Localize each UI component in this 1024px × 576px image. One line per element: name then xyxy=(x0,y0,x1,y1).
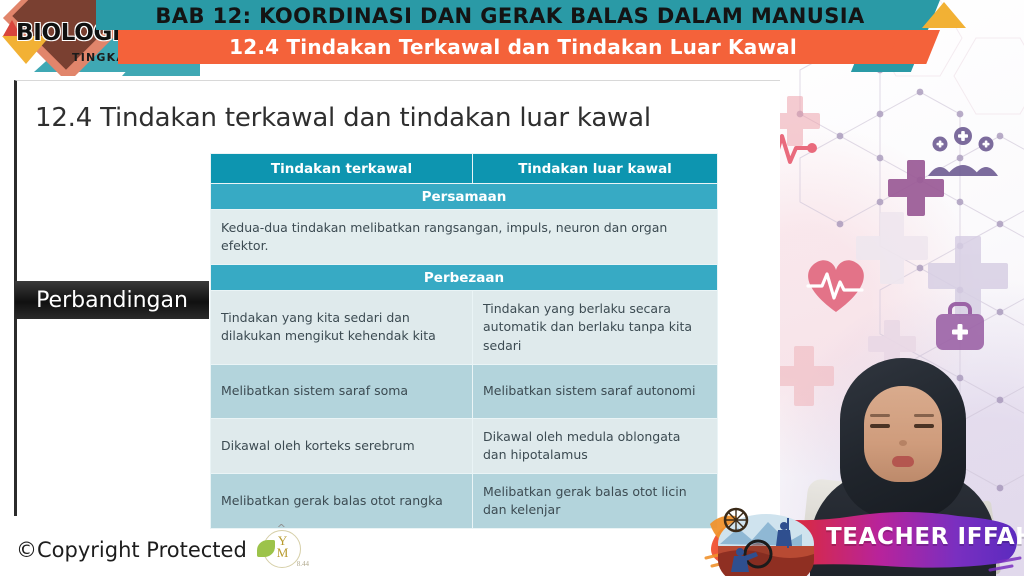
teacher-face xyxy=(864,386,942,482)
column-header-luar-kawal: Tindakan luar kawal xyxy=(473,154,718,184)
eyebrow-left xyxy=(870,414,890,417)
copyright-notice: ©Copyright Protected ^ YM 8.44 xyxy=(16,530,299,570)
copyright-text: ©Copyright Protected xyxy=(16,538,247,562)
comparison-table: Tindakan terkawal Tindakan luar kawal Pe… xyxy=(210,153,718,529)
table-row-persamaan-text: Kedua-dua tindakan melibatkan rangsangan… xyxy=(211,210,718,265)
ecg-line-icon xyxy=(780,128,846,168)
eye-left-closed xyxy=(870,424,890,428)
table-row: Tindakan yang kita sedari dan dilakukan … xyxy=(211,291,718,364)
cell-luar-kawal-3: Dikawal oleh medula oblongata dan hipota… xyxy=(473,418,718,473)
lesson-header-banner: BAB 12: KOORDINASI DAN GERAK BALAS DALAM… xyxy=(0,0,1024,72)
table-band-persamaan: Persamaan xyxy=(211,184,718,210)
cell-terkawal-4: Melibatkan gerak balas otot rangka xyxy=(211,473,473,528)
table-row: Melibatkan sistem saraf soma Melibatkan … xyxy=(211,364,718,418)
teacher-brand-banner: TEACHER IFFAH xyxy=(704,502,1024,576)
cell-terkawal-1: Tindakan yang kita sedari dan dilakukan … xyxy=(211,291,473,364)
topic-subtitle: 12.4 Tindakan Terkawal dan Tindakan Luar… xyxy=(118,31,908,64)
slide-content-area: 12.4 Tindakan terkawal dan tindakan luar… xyxy=(14,80,780,516)
cell-luar-kawal-2: Melibatkan sistem saraf autonomi xyxy=(473,364,718,418)
nose xyxy=(899,440,907,446)
table-row: Dikawal oleh korteks serebrum Dikawal ol… xyxy=(211,418,718,473)
cell-luar-kawal-4: Melibatkan gerak balas otot licin dan ke… xyxy=(473,473,718,528)
table-row: Melibatkan gerak balas otot rangka Melib… xyxy=(211,473,718,528)
cell-terkawal-2: Melibatkan sistem saraf soma xyxy=(211,364,473,418)
webcam-panel xyxy=(780,0,1024,576)
table-header-row: Tindakan terkawal Tindakan luar kawal xyxy=(211,154,718,184)
cell-luar-kawal-1: Tindakan yang berlaku secara automatik d… xyxy=(473,291,718,364)
medical-bag-icon xyxy=(932,300,988,354)
mouth xyxy=(892,456,914,467)
medical-team-icon xyxy=(928,124,998,176)
band-label-persamaan: Persamaan xyxy=(211,184,718,210)
band-label-perbezaan: Perbezaan xyxy=(211,265,718,291)
header-yellow-triangle-icon xyxy=(922,2,966,28)
teacher-brand-name: TEACHER IFFAH xyxy=(826,524,1024,550)
eye-right-closed xyxy=(914,424,934,428)
table-band-perbezaan: Perbezaan xyxy=(211,265,718,291)
copyright-logo: ^ YM 8.44 xyxy=(255,530,299,570)
screen-root: 12.4 Tindakan terkawal dan tindakan luar… xyxy=(0,0,1024,576)
column-header-terkawal: Tindakan terkawal xyxy=(211,154,473,184)
cell-terkawal-3: Dikawal oleh korteks serebrum xyxy=(211,418,473,473)
perbandingan-label: Perbandingan xyxy=(15,281,209,319)
heart-ecg-icon xyxy=(800,252,872,316)
chapter-title: BAB 12: KOORDINASI DAN GERAK BALAS DALAM… xyxy=(110,1,910,31)
logo-initials: YM xyxy=(277,535,289,559)
persamaan-text: Kedua-dua tindakan melibatkan rangsangan… xyxy=(211,210,718,265)
logo-tagline: 8.44 xyxy=(297,560,309,568)
slide-title: 12.4 Tindakan terkawal dan tindakan luar… xyxy=(35,103,651,133)
eyebrow-right xyxy=(914,414,934,417)
geology-scene-icon xyxy=(710,504,818,576)
